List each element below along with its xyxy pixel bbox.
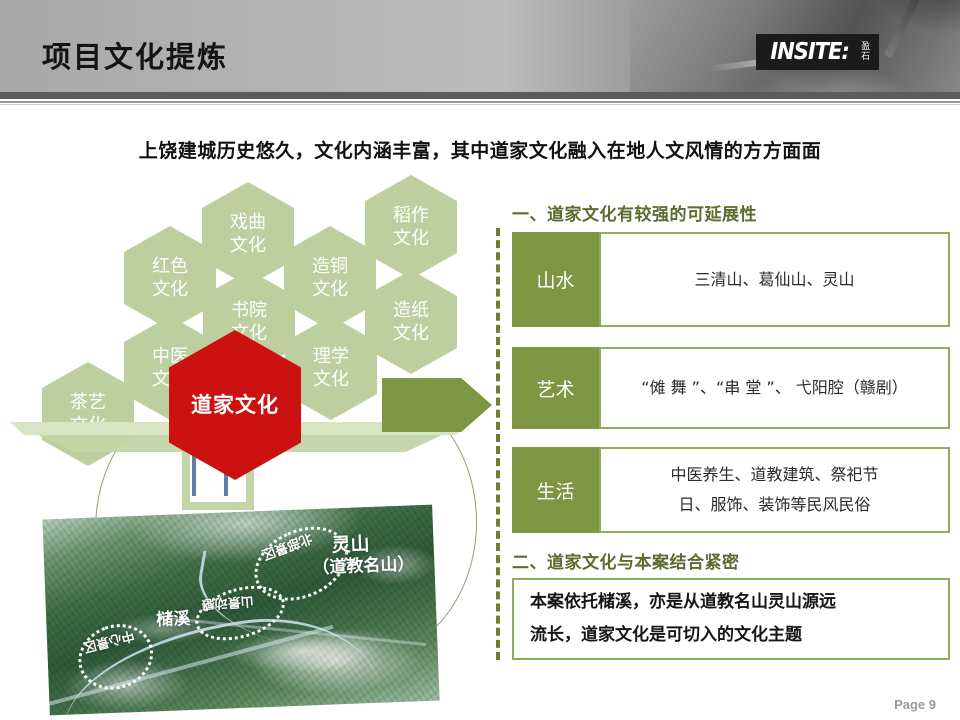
logo-cn-char-2: 石 bbox=[861, 52, 870, 62]
row-content-shenghuo-line2: 日、服饰、装饰等民风民俗 bbox=[678, 490, 870, 520]
hex-zaozhi-line1: 造纸 bbox=[393, 299, 429, 322]
row-content-yishu: “傩 舞 ”、“串 堂 ”、 弋阳腔（赣剧） bbox=[599, 347, 950, 429]
aerial-map-image: 灵山 （道教名山） 槠溪 北部景区 山景动感 中心景区 bbox=[42, 505, 439, 716]
hex-zaotong-line2: 文化 bbox=[312, 278, 348, 301]
header-divider-line-light bbox=[0, 104, 960, 105]
section-heading-2: 二、道家文化与本案结合紧密 bbox=[512, 548, 740, 573]
row-label-shenghuo: 生活 bbox=[512, 447, 599, 533]
row-label-yishu: 艺术 bbox=[512, 347, 599, 429]
row-content-shenghuo-line1: 中医养生、道教建筑、祭祀节 bbox=[670, 460, 878, 490]
hex-zaozhi: 造纸 文化 bbox=[365, 270, 457, 374]
map-label-lingshan-sub: （道教名山） bbox=[312, 549, 415, 578]
map-label-zhuxi: 槠溪 bbox=[156, 604, 191, 630]
hex-zaotong: 造铜 文化 bbox=[284, 226, 376, 330]
slide-subtitle: 上饶建城历史悠久，文化内涵丰富，其中道家文化融入在地人文风情的方方面面 bbox=[0, 136, 960, 163]
row-label-shanshui: 山水 bbox=[512, 232, 599, 327]
hex-xiqu-line1: 戏曲 bbox=[230, 211, 266, 234]
slide-root: 项目文化提炼 INSITE: 盈 石 上饶建城历史悠久，文化内涵丰富，其中道家文… bbox=[0, 0, 960, 720]
hex-daozuo-line1: 稻作 bbox=[393, 204, 429, 227]
header-divider-bar bbox=[0, 92, 960, 99]
hex-xiqu-line2: 文化 bbox=[230, 234, 266, 257]
hex-daojia-label: 道家文化 bbox=[191, 394, 279, 417]
hex-lixue-line2: 文化 bbox=[313, 368, 349, 391]
row-content-shenghuo: 中医养生、道教建筑、祭祀节 日、服饰、装饰等民风民俗 bbox=[599, 447, 950, 533]
hex-shuyuan-line1: 书院 bbox=[231, 299, 267, 322]
hex-daozuo: 稻作 文化 bbox=[365, 175, 457, 279]
section-heading-1: 一、道家文化有较强的可延展性 bbox=[512, 200, 757, 225]
table-row-shanshui: 山水 三清山、葛仙山、灵山 bbox=[512, 232, 950, 327]
note-line-2: 流长，道家文化是可切入的文化主题 bbox=[530, 619, 802, 652]
hex-hongse-line2: 文化 bbox=[152, 278, 188, 301]
page-number: Page 9 bbox=[894, 697, 936, 712]
hex-zaotong-line1: 造铜 bbox=[312, 255, 348, 278]
hex-chayi-line1: 茶艺 bbox=[70, 391, 106, 414]
hex-hongse-line1: 红色 bbox=[152, 255, 188, 278]
hex-zaozhi-line2: 文化 bbox=[393, 322, 429, 345]
logo-chinese-mark: 盈 石 bbox=[861, 42, 870, 62]
page-title: 项目文化提炼 bbox=[42, 34, 228, 76]
table-row-yishu: 艺术 “傩 舞 ”、“串 堂 ”、 弋阳腔（赣剧） bbox=[512, 347, 950, 429]
note-line-1: 本案依托槠溪，亦是从道教名山灵山源远 bbox=[530, 586, 836, 619]
header-divider-line bbox=[0, 101, 960, 103]
stem-inner-left bbox=[192, 452, 196, 496]
hex-lixue-line1: 理学 bbox=[313, 345, 349, 368]
row-content-shanshui: 三清山、葛仙山、灵山 bbox=[599, 232, 950, 327]
conclusion-note-box: 本案依托槠溪，亦是从道教名山灵山源远 流长，道家文化是可切入的文化主题 bbox=[512, 578, 950, 660]
logo-cn-char-1: 盈 bbox=[861, 42, 870, 52]
slide-header: 项目文化提炼 INSITE: 盈 石 bbox=[0, 0, 960, 92]
insite-logo: INSITE: 盈 石 bbox=[756, 34, 879, 70]
map-label-rotated-2: 山景动感 bbox=[201, 593, 254, 616]
logo-wordmark: INSITE: bbox=[770, 39, 848, 65]
hex-daozuo-line2: 文化 bbox=[393, 227, 429, 250]
table-row-shenghuo: 生活 中医养生、道教建筑、祭祀节 日、服饰、装饰等民风民俗 bbox=[512, 447, 950, 533]
vertical-dashed-divider bbox=[496, 228, 500, 660]
